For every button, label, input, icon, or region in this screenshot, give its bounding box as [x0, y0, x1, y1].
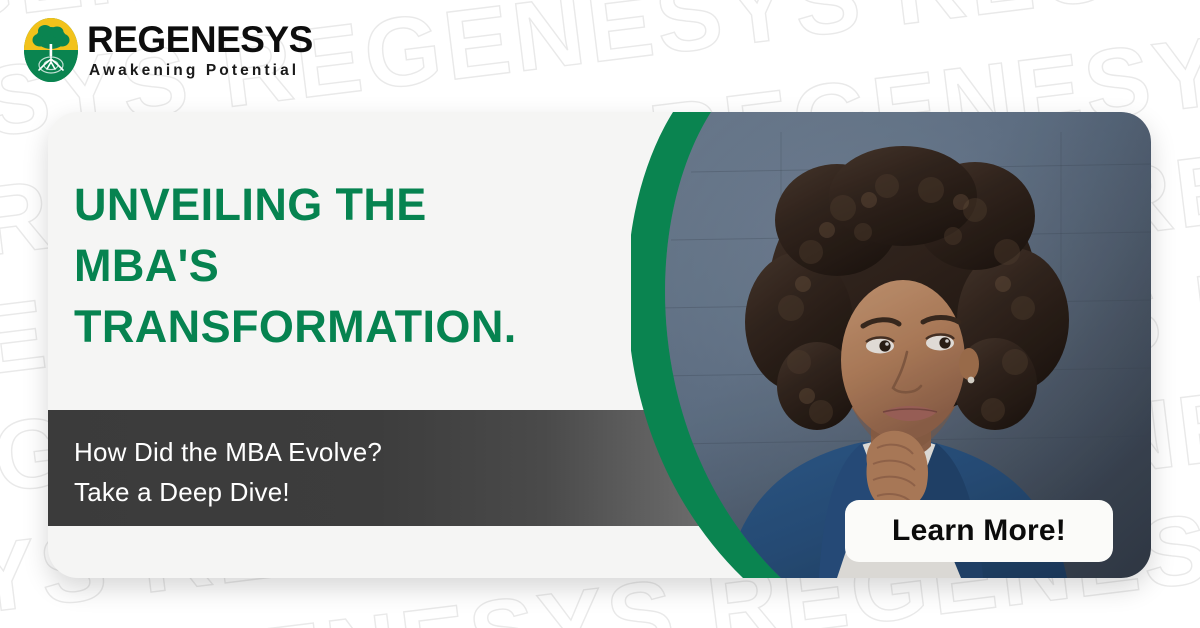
brand-logo: REGENESYS Awakening Potential	[24, 18, 313, 82]
headline-line-1: UNVEILING THE	[74, 174, 694, 235]
banner-stage: REGENESYS REGENESYS REGENESYS REGENESYS …	[0, 0, 1200, 628]
tree-roots-oval-icon	[24, 18, 78, 82]
page-title: UNVEILING THE MBA'S TRANSFORMATION.	[74, 174, 694, 357]
logo-wordmark: REGENESYS	[87, 21, 313, 58]
logo-tagline: Awakening Potential	[89, 63, 313, 79]
subtitle-line-2: Take a Deep Dive!	[74, 472, 382, 512]
headline-line-3: TRANSFORMATION.	[74, 296, 694, 357]
headline-line-2: MBA'S	[74, 235, 694, 296]
learn-more-label: Learn More!	[892, 514, 1066, 548]
logo-tree-glyph	[24, 18, 78, 82]
subtitle-line-1: How Did the MBA Evolve?	[74, 432, 382, 472]
subtitle-text: How Did the MBA Evolve? Take a Deep Dive…	[74, 432, 382, 512]
logo-text-block: REGENESYS Awakening Potential	[87, 21, 313, 79]
learn-more-button[interactable]: Learn More!	[845, 500, 1113, 562]
watermark-row: REGENESYS REGENESYS REGENESYS	[0, 578, 1200, 628]
